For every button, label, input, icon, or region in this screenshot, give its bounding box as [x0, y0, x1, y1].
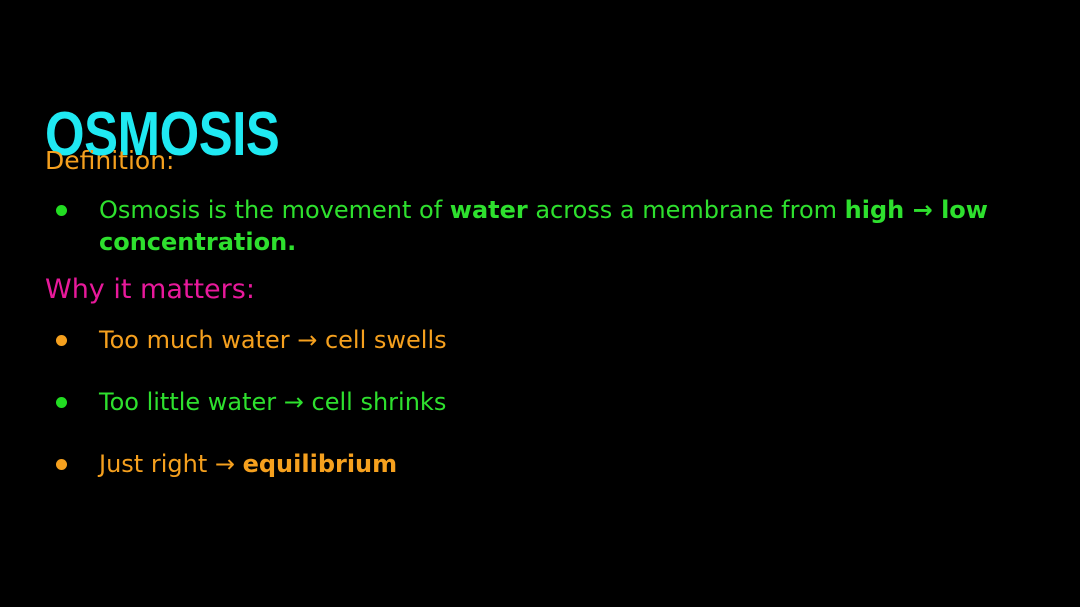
section-heading-definition: Definition: — [45, 146, 174, 176]
bullet-dot-icon — [56, 335, 67, 346]
bullet-text: Too much water → cell swells — [99, 324, 447, 356]
bullet-dot-icon — [56, 459, 67, 470]
bullet-dot-icon — [56, 205, 67, 216]
bullet-text: Too little water → cell shrinks — [99, 386, 446, 418]
list-item: Osmosis is the movement of water across … — [56, 194, 1016, 258]
list-item: Too little water → cell shrinks — [56, 386, 446, 418]
bullet-text: Just right → equilibrium — [99, 448, 397, 480]
slide-canvas: OSMOSIS Definition: Osmosis is the movem… — [0, 0, 1080, 607]
list-item: Just right → equilibrium — [56, 448, 397, 480]
section-heading-why-it-matters: Why it matters: — [45, 275, 255, 305]
bullet-text: Osmosis is the movement of water across … — [99, 194, 1016, 258]
list-item: Too much water → cell swells — [56, 324, 447, 356]
bullet-dot-icon — [56, 397, 67, 408]
